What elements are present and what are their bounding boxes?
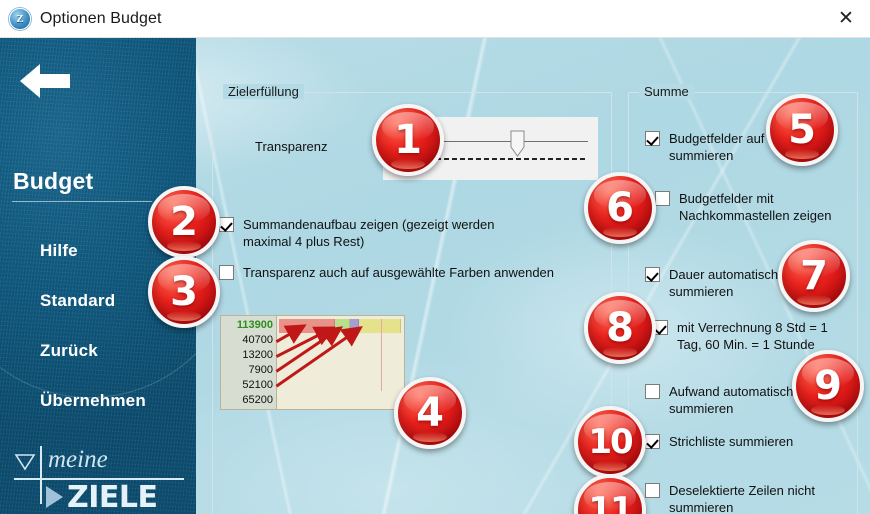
window-title: Optionen Budget xyxy=(40,10,162,28)
checkbox-label: Transparenz auch auf ausgewählte Farben … xyxy=(243,264,554,281)
sidebar-item-standard[interactable]: Standard xyxy=(40,291,115,311)
chart-preview-segment xyxy=(350,319,360,333)
callout-badge-9: 9 xyxy=(792,350,864,422)
checkbox-box[interactable] xyxy=(219,217,234,232)
chart-preview-value: 13200 xyxy=(242,349,273,361)
chart-preview-value: 113900 xyxy=(237,319,273,331)
callout-badge-number: 8 xyxy=(606,308,634,348)
group-zielerfuellung-legend: Zielerfüllung xyxy=(223,84,304,99)
logo-triangle-up-icon xyxy=(14,452,36,472)
sidebar-title-rule xyxy=(12,201,152,202)
chart-preview-segment xyxy=(335,319,350,333)
chart-preview-segment xyxy=(279,319,335,333)
checkbox-label: Budgetfelder auf summieren xyxy=(669,130,764,164)
sidebar-item-uebernehmen[interactable]: Übernehmen xyxy=(40,391,146,411)
checkbox-nachkomma[interactable]: Budgetfelder mit Nachkommastellen zeigen xyxy=(655,190,855,224)
callout-badge-number: 5 xyxy=(788,110,816,150)
checkbox-transparenz-farben[interactable]: Transparenz auch auf ausgewählte Farben … xyxy=(219,264,579,281)
callout-badge-number: 9 xyxy=(814,366,842,406)
sidebar-item-hilfe[interactable]: Hilfe xyxy=(40,241,78,261)
checkbox-deselektiert[interactable]: Deselektierte Zeilen nicht summieren xyxy=(645,482,845,514)
sidebar-item-zurueck[interactable]: Zurück xyxy=(40,341,98,361)
checkbox-box[interactable] xyxy=(645,384,660,399)
chart-preview-stacked-bar xyxy=(279,319,401,333)
callout-badge-number: 4 xyxy=(416,393,444,433)
callout-badge-number: 1 xyxy=(394,120,422,160)
back-arrow-icon[interactable] xyxy=(16,60,74,102)
callout-badge-4: 4 xyxy=(394,377,466,449)
chart-preview: 113900 40700 13200 7900 52100 65200 xyxy=(220,315,405,410)
chart-preview-guide-line xyxy=(381,319,382,391)
callout-badge-8: 8 xyxy=(584,292,656,364)
callout-badge-3: 3 xyxy=(148,256,220,328)
checkbox-box[interactable] xyxy=(645,483,660,498)
chart-preview-value: 7900 xyxy=(249,364,273,376)
checkbox-label: Strichliste summieren xyxy=(669,433,793,450)
callout-badge-number: 10 xyxy=(588,425,631,459)
checkbox-box[interactable] xyxy=(645,434,660,449)
callout-badge-number: 2 xyxy=(170,202,198,242)
callout-badge-10: 10 xyxy=(574,406,646,478)
window-body: Budget Hilfe Standard Zurück Übernehmen … xyxy=(0,38,870,514)
checkbox-label: Aufwand automatisch summieren xyxy=(669,383,793,417)
callout-badge-7: 7 xyxy=(778,240,850,312)
checkbox-label: Budgetfelder mit Nachkommastellen zeigen xyxy=(679,190,831,224)
slider-tick-marks xyxy=(428,158,588,160)
checkbox-label: Summandenaufbau zeigen (gezeigt werden m… xyxy=(243,216,495,250)
callout-badge-number: 6 xyxy=(606,188,634,228)
options-budget-window: Optionen Budget ✕ Budget Hilfe Standard … xyxy=(0,0,870,514)
checkbox-verrechnung[interactable]: mit Verrechnung 8 Std = 1 Tag, 60 Min. =… xyxy=(653,319,853,353)
slider-track xyxy=(428,141,588,142)
app-globe-z-icon xyxy=(9,8,31,30)
checkbox-box[interactable] xyxy=(645,267,660,282)
callout-badge-number: 7 xyxy=(800,256,828,296)
callout-badge-5: 5 xyxy=(766,94,838,166)
window-titlebar: Optionen Budget ✕ xyxy=(0,0,870,38)
logo-triangle-right-icon xyxy=(46,486,63,508)
callout-badge-1: 1 xyxy=(372,104,444,176)
meine-ziele-logo: meine ZIELE xyxy=(14,444,186,510)
checkbox-label: Dauer automatisch summieren xyxy=(669,266,778,300)
slider-thumb[interactable] xyxy=(510,130,525,158)
group-summe-legend: Summe xyxy=(639,84,694,99)
logo-script-word: meine xyxy=(48,446,108,474)
chart-preview-value: 52100 xyxy=(242,379,273,391)
callout-badge-2: 2 xyxy=(148,186,220,258)
checkbox-summandenaufbau[interactable]: Summandenaufbau zeigen (gezeigt werden m… xyxy=(219,216,549,250)
sidebar-title: Budget xyxy=(13,168,93,195)
checkbox-box[interactable] xyxy=(655,191,670,206)
callout-badge-number: 11 xyxy=(588,493,631,514)
checkbox-box[interactable] xyxy=(219,265,234,280)
checkbox-strichliste[interactable]: Strichliste summieren xyxy=(645,433,845,450)
chart-preview-value: 40700 xyxy=(242,334,273,346)
logo-divider-vertical xyxy=(40,446,42,504)
checkbox-label: Deselektierte Zeilen nicht summieren xyxy=(669,482,815,514)
checkbox-label: mit Verrechnung 8 Std = 1 Tag, 60 Min. =… xyxy=(677,319,828,353)
chart-preview-label-column: 113900 40700 13200 7900 52100 65200 xyxy=(221,316,277,410)
callout-badge-6: 6 xyxy=(584,172,656,244)
transparenz-label: Transparenz xyxy=(255,139,328,154)
logo-bold-word: ZIELE xyxy=(67,480,158,514)
close-icon[interactable]: ✕ xyxy=(822,0,870,37)
callout-badge-number: 3 xyxy=(170,272,198,312)
chart-preview-value: 65200 xyxy=(242,394,273,406)
checkbox-box[interactable] xyxy=(645,131,660,146)
